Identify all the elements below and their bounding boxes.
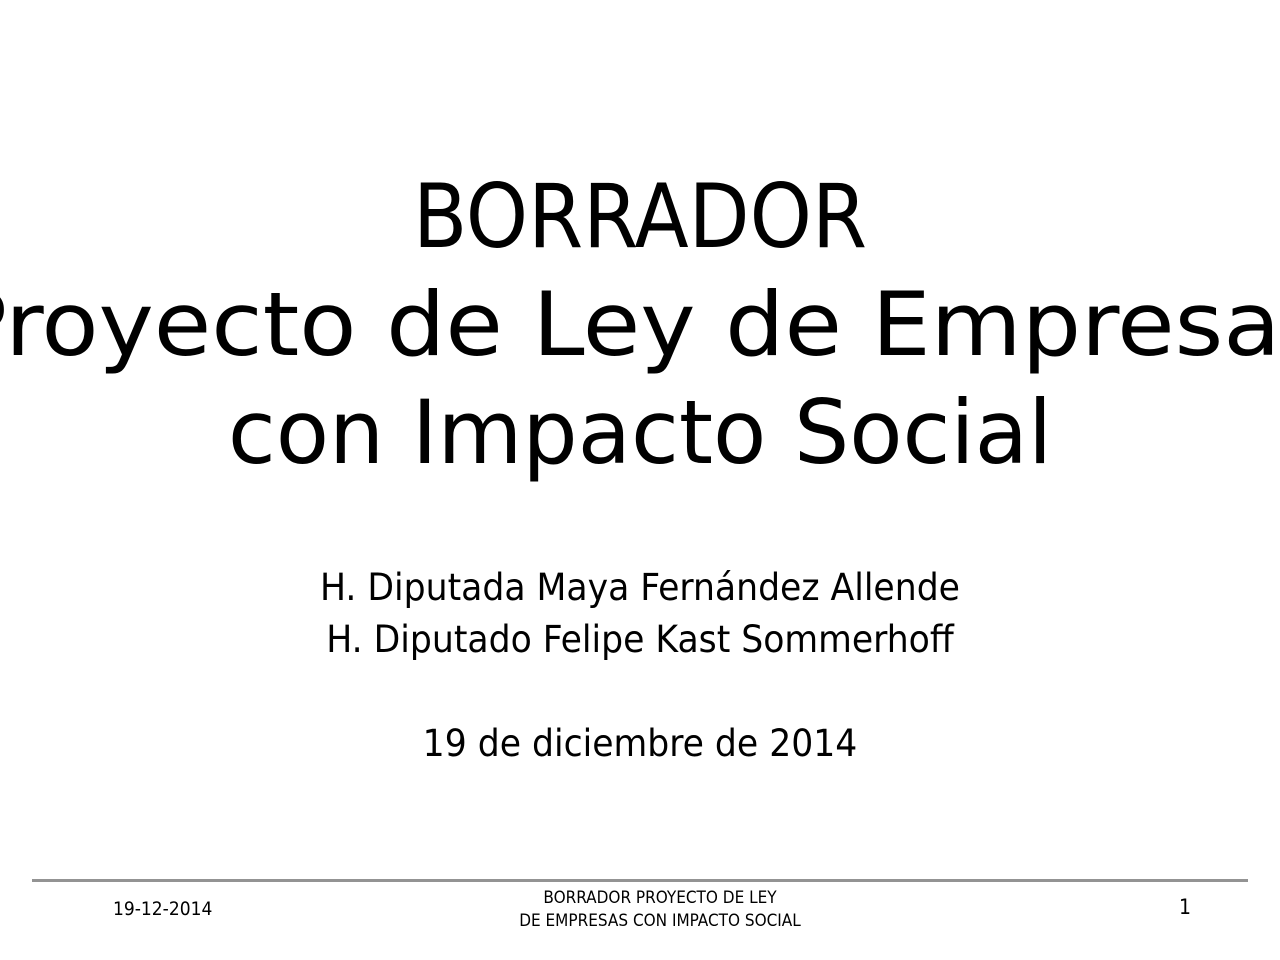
subtitle-blank-line (0, 666, 1280, 718)
slide-footer: 19-12-2014 BORRADOR PROYECTO DE LEY DE E… (0, 884, 1280, 944)
footer-center-line-2: DE EMPRESAS CON IMPACTO SOCIAL (340, 910, 980, 933)
slide-title: BORRADOR Proyecto de Ley de Empresas con… (0, 163, 1280, 487)
footer-center-line-1: BORRADOR PROYECTO DE LEY (340, 887, 980, 910)
subtitle-author-2: H. Diputado Felipe Kast Sommerhoff (0, 614, 1280, 666)
subtitle-author-1: H. Diputada Maya Fernández Allende (0, 562, 1280, 614)
footer-center-text: BORRADOR PROYECTO DE LEY DE EMPRESAS CON… (340, 887, 980, 933)
footer-divider (32, 879, 1248, 882)
subtitle-date: 19 de diciembre de 2014 (0, 718, 1280, 770)
slide-canvas: BORRADOR Proyecto de Ley de Empresas con… (0, 0, 1280, 960)
title-line-3: con Impacto Social (0, 379, 1280, 487)
title-line-1: BORRADOR (0, 163, 1280, 271)
slide-subtitle: H. Diputada Maya Fernández Allende H. Di… (0, 562, 1280, 770)
title-line-2: Proyecto de Ley de Empresas (0, 271, 1280, 379)
footer-page-number: 1 (1160, 897, 1210, 918)
footer-date: 19-12-2014 (113, 900, 212, 919)
